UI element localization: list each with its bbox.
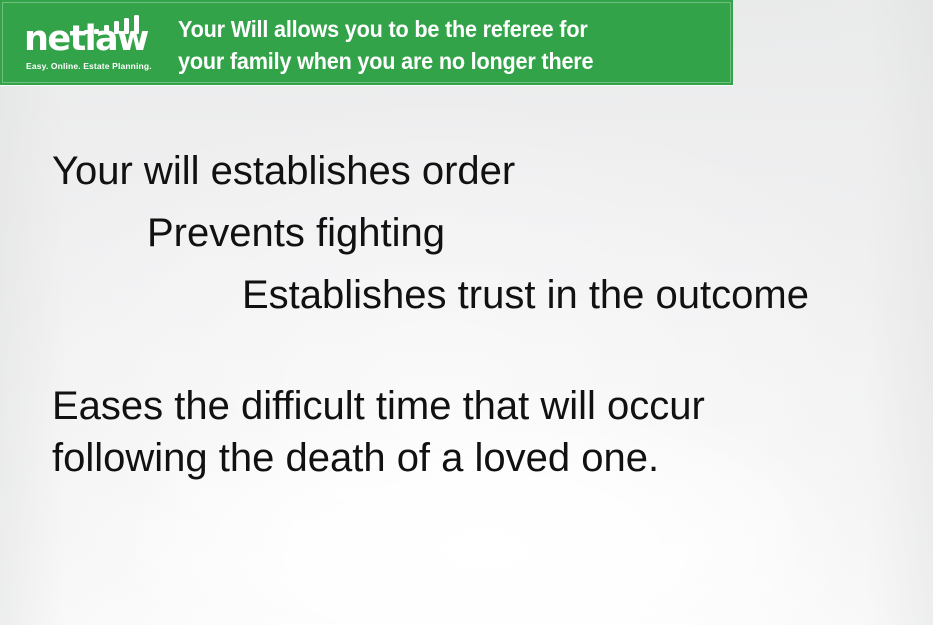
- closing-paragraph-line-2: following the death of a loved one.: [52, 432, 852, 484]
- staircase-item-1: Your will establishes order: [0, 140, 933, 202]
- banner-headline-line-2: your family when you are no longer there: [178, 45, 686, 77]
- staircase-item-3: Establishes trust in the outcome: [0, 264, 933, 326]
- presentation-slide: netlaw Easy. Online. Estate Planning. Yo…: [0, 0, 933, 625]
- closing-paragraph-line-1: Eases the difficult time that will occur: [52, 380, 852, 432]
- banner-headline: Your Will allows you to be the referee f…: [178, 13, 686, 77]
- closing-paragraph: Eases the difficult time that will occur…: [52, 380, 852, 484]
- staircase-bullet-list: Your will establishes order Prevents fig…: [0, 140, 933, 326]
- slide-body: Your will establishes order Prevents fig…: [0, 85, 933, 625]
- netlaw-logo[interactable]: netlaw Easy. Online. Estate Planning.: [24, 12, 150, 74]
- logo-wordmark: netlaw: [24, 22, 148, 57]
- banner-headline-line-1: Your Will allows you to be the referee f…: [178, 13, 686, 45]
- logo-tagline: Easy. Online. Estate Planning.: [26, 62, 152, 71]
- slide-header-banner: netlaw Easy. Online. Estate Planning. Yo…: [0, 0, 733, 85]
- staircase-item-2: Prevents fighting: [0, 202, 933, 264]
